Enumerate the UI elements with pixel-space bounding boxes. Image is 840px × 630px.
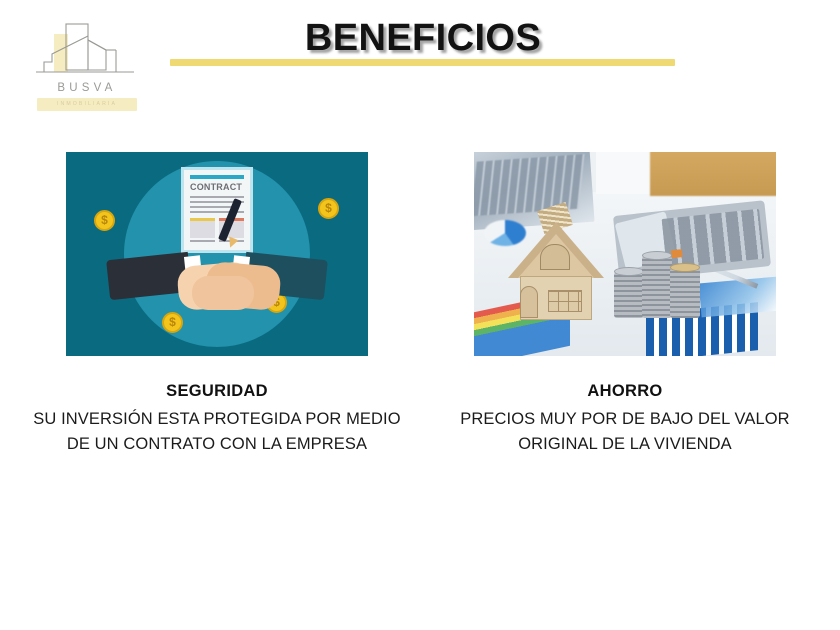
contract-document-icon: CONTRACT [184,170,250,250]
benefit-caption-seguridad: SEGURIDAD SU INVERSIÓN ESTA PROTEGIDA PO… [22,380,412,457]
house-attic-window [540,244,570,270]
document-text-line [190,240,215,242]
dollar-coin-icon: $ [162,312,183,333]
benefit-description: SU INVERSIÓN ESTA PROTEGIDA POR MEDIO DE… [28,407,406,457]
coin-top [614,267,644,276]
coin-top-gold [670,263,700,272]
benefit-title: AHORRO [436,380,814,402]
house-window-grid [549,291,581,311]
handshake-contract-illustration: $ $ $ $ CONTRACT [66,152,368,356]
wooden-board-background [650,152,776,196]
slide-header: BUSVA INMOBILIARIA BENEFICIOS [0,0,840,132]
calculator-keypad [662,209,765,269]
page-title: BENEFICIOS [170,16,676,60]
wooden-house-model-icon [510,206,602,318]
coin-stack [642,256,672,318]
house-window [548,290,582,312]
logo-wordmark: BUSVA [28,82,146,94]
document-header-bar [190,175,244,179]
benefits-grid: $ $ $ $ CONTRACT [0,132,840,630]
benefit-description: PRECIOS MUY POR DE BAJO DEL VALOR ORIGIN… [436,407,814,457]
dollar-coin-icon: $ [318,198,339,219]
area-chart-graphic [699,277,776,318]
document-text-line [190,206,236,208]
benefit-card-ahorro: AHORRO PRECIOS MUY POR DE BAJO DEL VALOR… [430,132,820,457]
coin-top [642,251,672,260]
benefit-caption-ahorro: AHORRO PRECIOS MUY POR DE BAJO DEL VALOR… [430,380,820,457]
calculator-orange-key [671,249,683,258]
building-outline-icon [34,22,140,80]
document-field-box [190,218,215,238]
handshake-fingers [192,276,254,310]
document-title-text: CONTRACT [190,182,242,192]
benefit-card-seguridad: $ $ $ $ CONTRACT [22,132,412,457]
coin-stack [614,272,644,318]
benefit-title: SEGURIDAD [28,380,406,402]
coin-stack [670,268,700,318]
logo-tagline: INMOBILIARIA [28,99,146,110]
title-underline-accent [170,59,675,66]
busva-logo: BUSVA INMOBILIARIA [28,22,146,114]
house-coins-calculator-photo [474,152,776,356]
dollar-coin-icon: $ [94,210,115,231]
house-door [520,286,538,318]
